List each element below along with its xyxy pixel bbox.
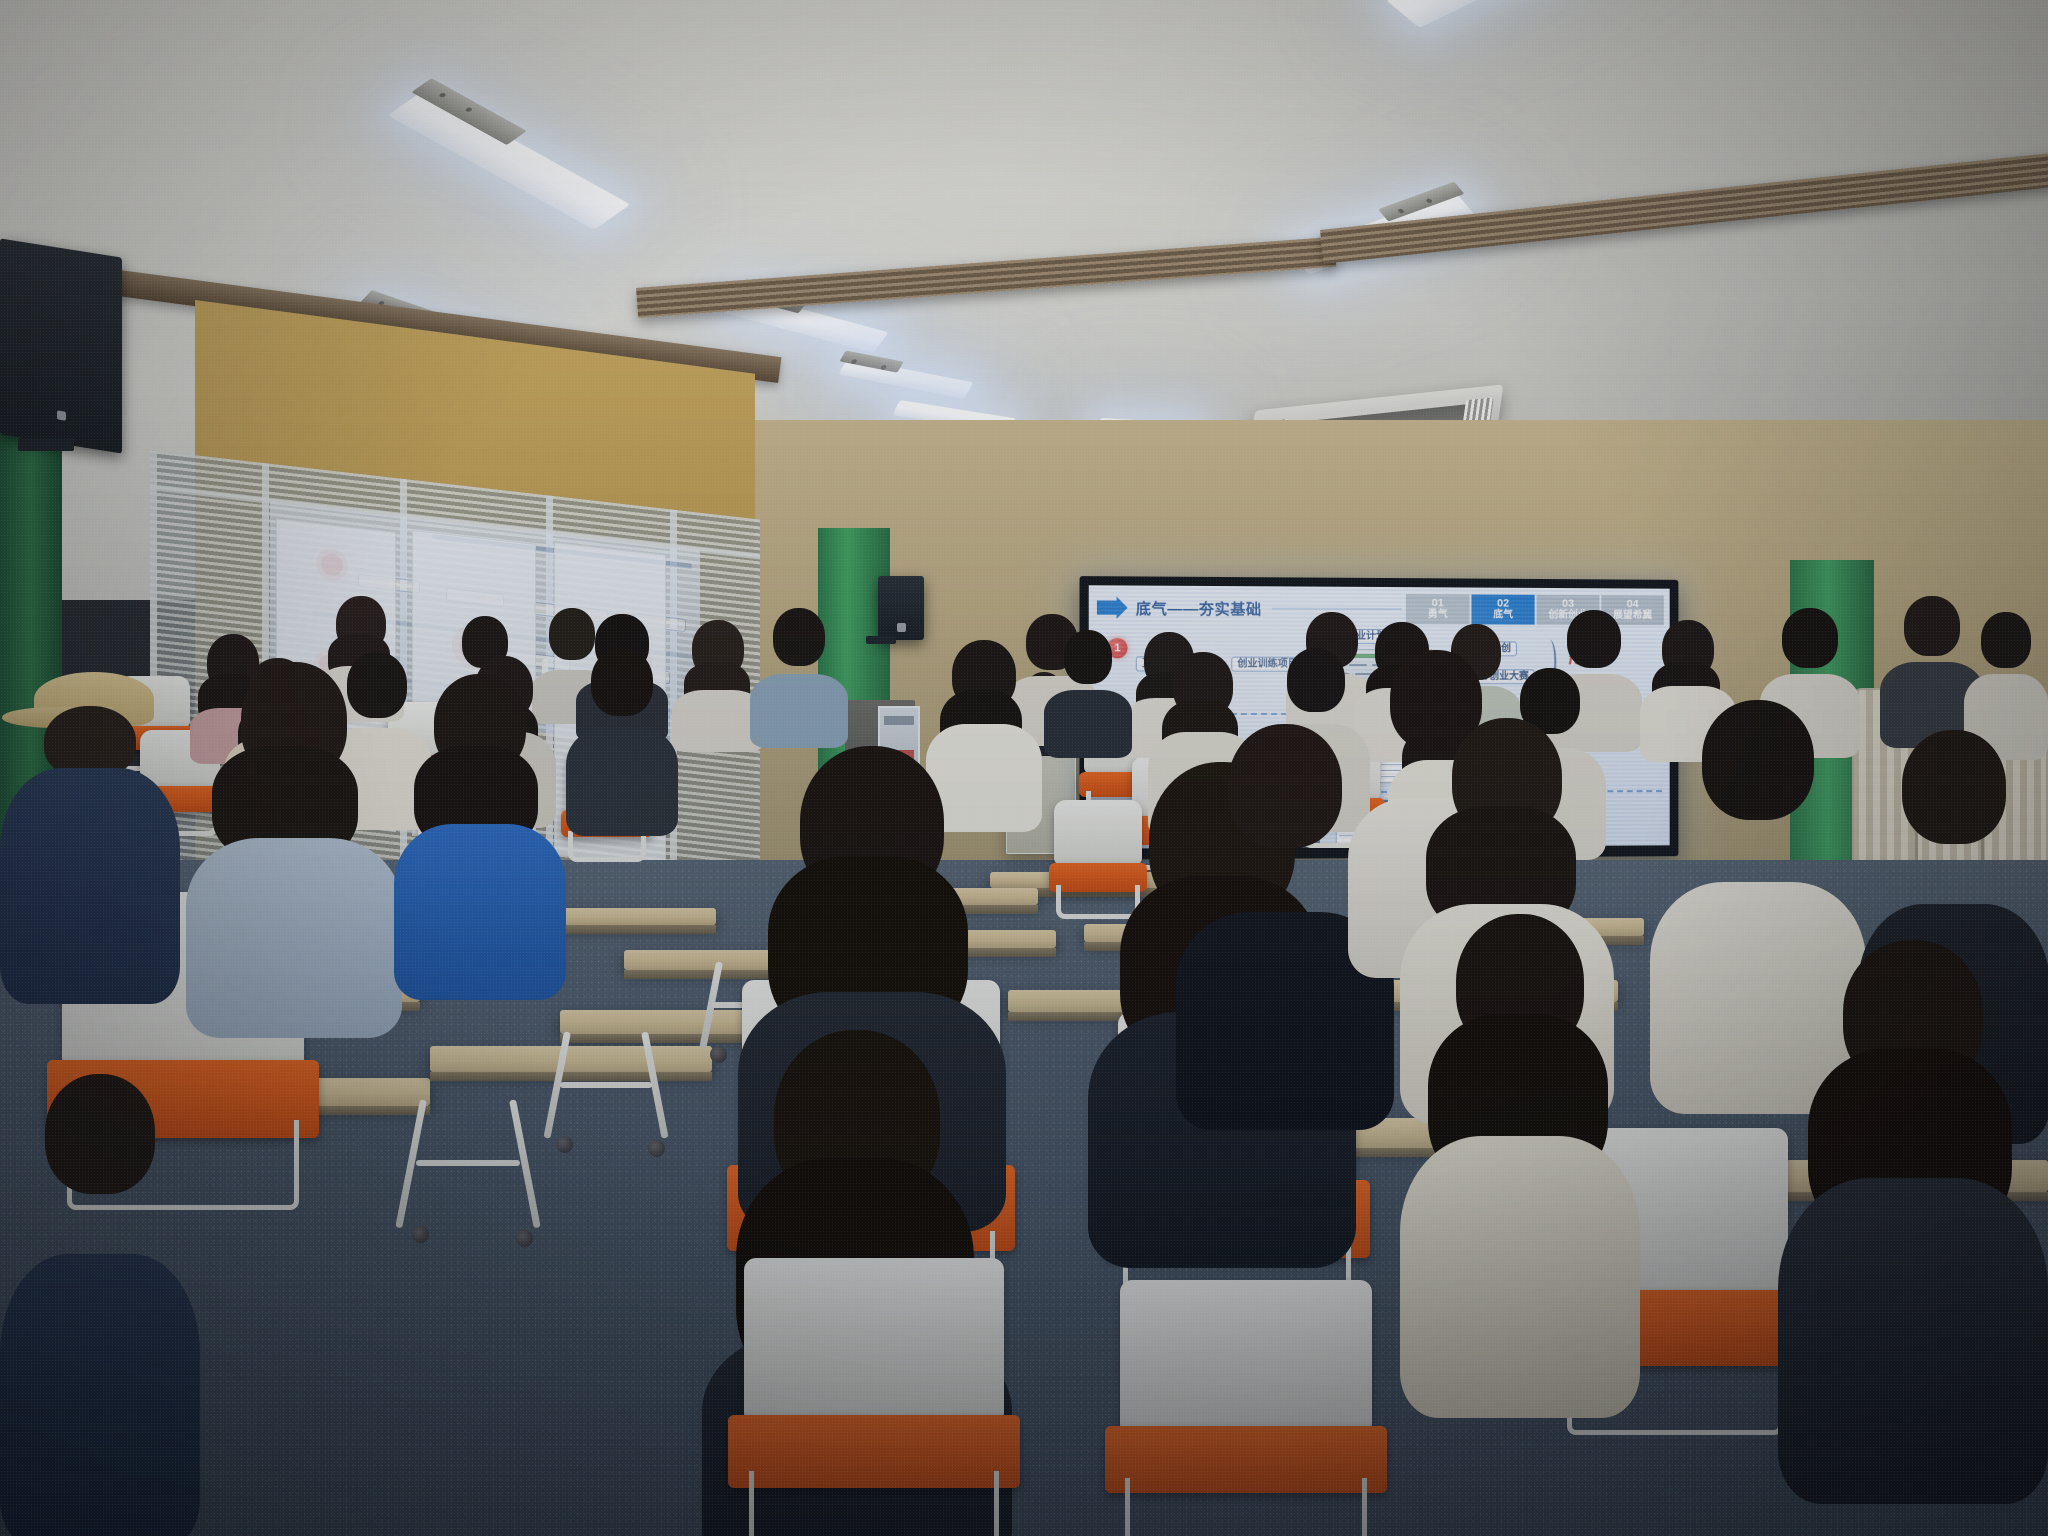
desk-leg-frame	[420, 1100, 516, 1230]
desk-leg-frame	[564, 1032, 648, 1140]
desk-caster	[516, 1230, 533, 1247]
audience-member	[394, 674, 566, 994]
audience-member	[1778, 940, 2048, 1500]
wall-speaker-center	[878, 576, 924, 640]
classroom-photo: 底气——夯实基础 01 勇气 02 底气 03 创新创业	[0, 0, 2048, 1536]
tab-section-02[interactable]: 02 底气	[1471, 594, 1534, 624]
audience-member	[566, 648, 678, 834]
desk-caster	[648, 1140, 665, 1157]
header-rule	[1272, 607, 1402, 610]
slide-title: 底气——夯实基础	[1128, 593, 1268, 624]
audience-member	[1400, 914, 1640, 1414]
tab-number: 01	[1432, 598, 1444, 610]
desk-caster	[412, 1226, 429, 1243]
chair[interactable]	[744, 1258, 1004, 1536]
desk-caster	[556, 1136, 573, 1153]
audience-member	[750, 608, 848, 744]
tab-section-01[interactable]: 01 勇气	[1406, 594, 1470, 624]
audience-member	[0, 1074, 200, 1536]
wall-speaker-left	[0, 238, 122, 453]
arrow-marker-icon	[1097, 596, 1128, 618]
tab-label: 底气	[1493, 610, 1513, 621]
audience-member	[1044, 630, 1132, 754]
audience-member-with-cap	[0, 672, 180, 1002]
tab-number: 02	[1497, 599, 1509, 611]
audience-member	[186, 662, 402, 1034]
speaker-bracket	[866, 636, 896, 644]
tab-label: 勇气	[1428, 610, 1448, 621]
tab-number: 03	[1562, 599, 1574, 611]
chair[interactable]	[1120, 1280, 1372, 1536]
speaker-bracket	[18, 438, 74, 451]
